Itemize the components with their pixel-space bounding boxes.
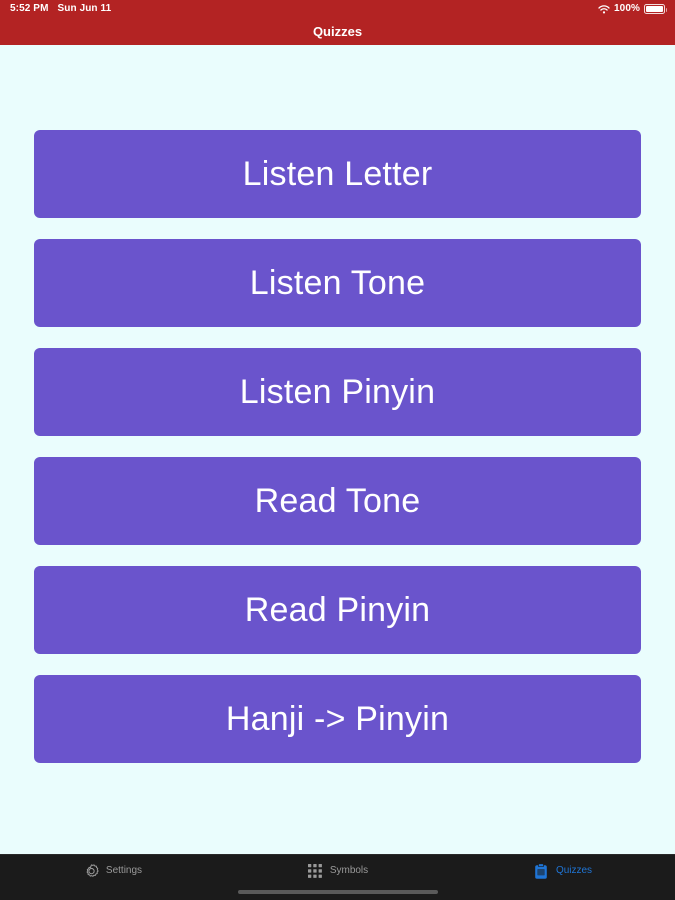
battery-fill — [646, 6, 663, 12]
tab-bar: Settings Symbols — [0, 854, 675, 900]
main-content: Listen Letter Listen Tone Listen Pinyin … — [0, 45, 675, 854]
home-indicator[interactable] — [238, 890, 438, 894]
grid-icon — [307, 863, 324, 880]
page-title: Quizzes — [0, 18, 675, 45]
quiz-button-listen-pinyin[interactable]: Listen Pinyin — [34, 348, 641, 436]
status-bar-left: 5:52 PM Sun Jun 11 — [10, 4, 111, 14]
status-date: Sun Jun 11 — [58, 4, 112, 14]
top-bar: 5:52 PM Sun Jun 11 100% Quizzes — [0, 0, 675, 45]
quiz-button-listen-letter[interactable]: Listen Letter — [34, 130, 641, 218]
tab-quizzes[interactable]: Quizzes — [450, 855, 675, 887]
status-time: 5:52 PM — [10, 4, 49, 14]
app-root: 5:52 PM Sun Jun 11 100% Quizzes — [0, 0, 675, 900]
tab-settings[interactable]: Settings — [0, 855, 225, 887]
tab-settings-label: Settings — [106, 866, 142, 876]
quiz-button-read-pinyin[interactable]: Read Pinyin — [34, 566, 641, 654]
battery-percent-label: 100% — [614, 4, 640, 14]
status-bar: 5:52 PM Sun Jun 11 100% — [0, 0, 675, 18]
quiz-button-listen-tone[interactable]: Listen Tone — [34, 239, 641, 327]
wifi-icon — [598, 5, 610, 14]
quiz-button-list: Listen Letter Listen Tone Listen Pinyin … — [34, 130, 641, 763]
tab-symbols[interactable]: Symbols — [225, 855, 450, 887]
quiz-button-hanji-to-pinyin[interactable]: Hanji -> Pinyin — [34, 675, 641, 763]
quiz-button-read-tone[interactable]: Read Tone — [34, 457, 641, 545]
tab-symbols-label: Symbols — [330, 866, 368, 876]
tab-quizzes-label: Quizzes — [556, 866, 592, 876]
battery-full-icon — [644, 4, 665, 14]
status-bar-right: 100% — [598, 4, 665, 14]
clipboard-icon — [533, 863, 550, 880]
gear-icon — [83, 863, 100, 880]
